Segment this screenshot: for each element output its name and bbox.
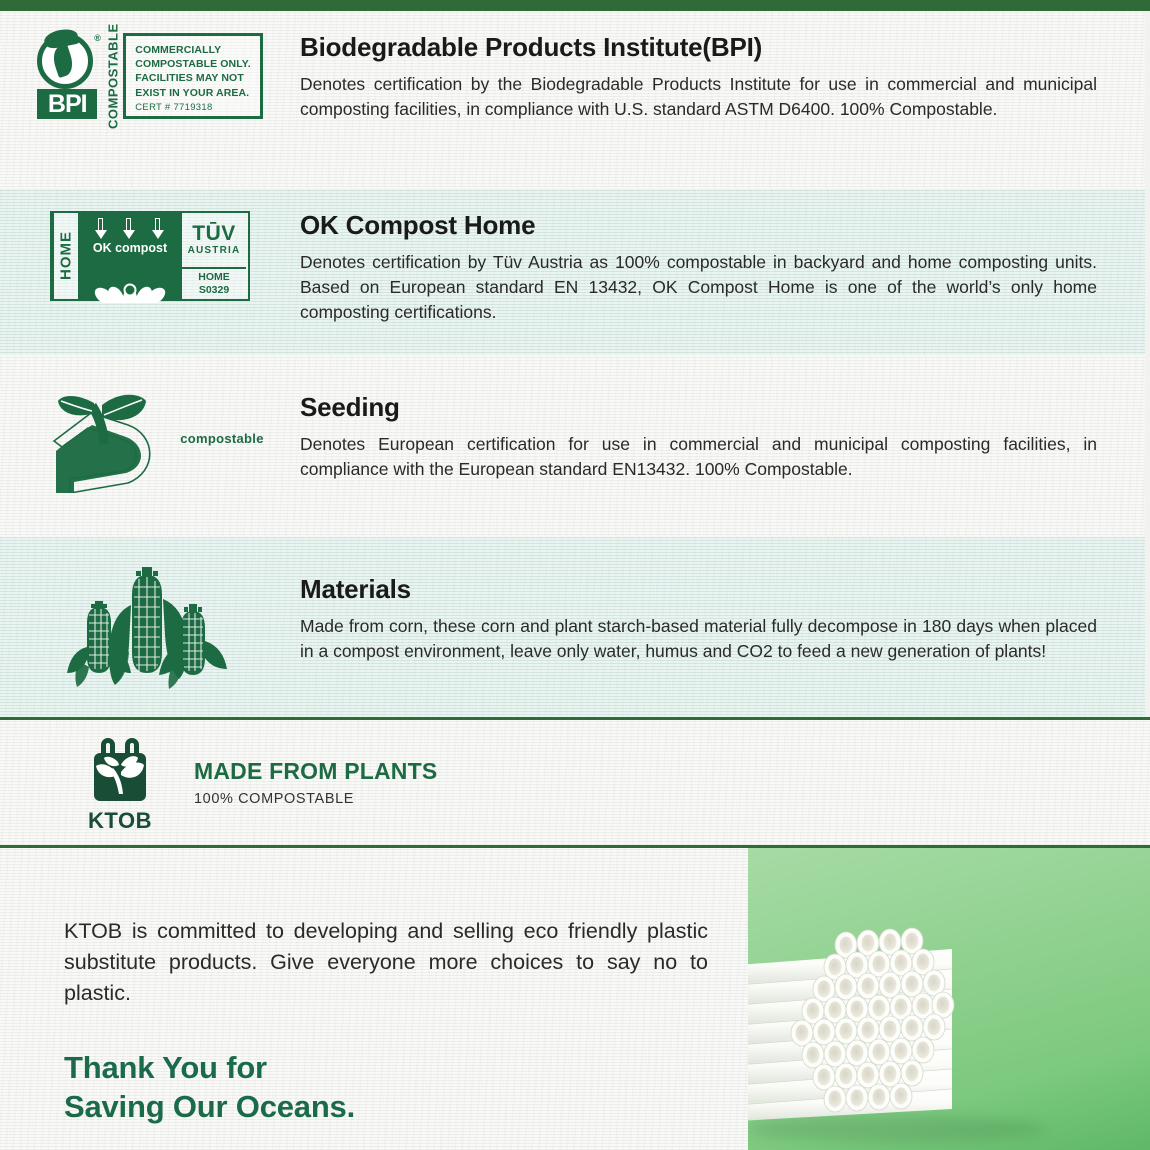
- seeding-logo: compostable: [0, 383, 300, 493]
- ktob-band-text: MADE FROM PLANTS 100% COMPOSTABLE: [194, 758, 437, 807]
- section-bpi-title: Biodegradable Products Institute(BPI): [300, 33, 1097, 62]
- down-arrow-icon: [123, 218, 136, 240]
- bpi-disclaimer-line-1: COMMERCIALLY: [135, 43, 250, 57]
- ktob-made-from-plants-band: KTOB MADE FROM PLANTS 100% COMPOSTABLE: [0, 717, 1150, 848]
- ktob-subline: 100% COMPOSTABLE: [194, 791, 437, 807]
- down-arrow-icon: [95, 218, 108, 240]
- tuv-wordmark: TŪV: [192, 224, 236, 244]
- section-materials: Materials Made from corn, these corn and…: [0, 537, 1145, 745]
- straws-photo: [748, 848, 1150, 1150]
- promo-page: ® BPI COMPOSTABLE COMMERCIALLY COMPOSTAB…: [0, 0, 1150, 1150]
- okc-code-block: HOME S0329: [182, 269, 246, 299]
- okc-arrows-group: [78, 213, 182, 240]
- ktob-band-inner: KTOB MADE FROM PLANTS 100% COMPOSTABLE: [0, 720, 1150, 845]
- bpi-disclaimer-line-2: COMPOSTABLE ONLY.: [135, 57, 250, 71]
- flower-icon: [93, 269, 167, 303]
- okc-label-text: OK compost: [78, 241, 182, 255]
- okc-right-panel: TŪV AUSTRIA HOME S0329: [182, 213, 246, 299]
- down-arrow-icon: [152, 218, 165, 240]
- white-straws-graphic: [748, 921, 1048, 1136]
- thanks-line-1: Thank You for: [64, 1048, 708, 1088]
- seedling-caption: compostable: [180, 431, 263, 446]
- top-green-accent-bar: [0, 0, 1150, 11]
- thanks-line-2: Saving Our Oceans.: [64, 1087, 708, 1127]
- bpi-seal-group: ® BPI: [37, 33, 103, 119]
- okc-vertical-home-text: HOME: [52, 213, 78, 299]
- section-bpi-body: Denotes certification by the Biodegradab…: [300, 72, 1097, 123]
- okc-code-number: S0329: [199, 284, 229, 297]
- thanks-heading: Thank You for Saving Our Oceans.: [64, 1048, 708, 1127]
- bpi-cert-number: CERT # 7719318: [135, 102, 250, 115]
- mission-paragraph: KTOB is committed to developing and sell…: [64, 916, 708, 1010]
- seedling-icon: [36, 383, 176, 493]
- ktob-logo: KTOB: [72, 732, 168, 834]
- bottom-copy-panel: KTOB is committed to developing and sell…: [0, 848, 748, 1150]
- bpi-disclaimer-line-3: FACILITIES MAY NOT: [135, 71, 250, 85]
- section-materials-body: Made from corn, these corn and plant sta…: [300, 614, 1097, 665]
- bpi-disclaimer-line-4: EXIST IN YOUR AREA.: [135, 86, 250, 100]
- corn-cobs-icon: [65, 565, 235, 693]
- ktob-headline: MADE FROM PLANTS: [194, 758, 437, 785]
- seedling-logo-graphic: compostable: [36, 383, 263, 493]
- section-ok-compost-home-title: OK Compost Home: [300, 211, 1097, 240]
- section-bpi-text: Biodegradable Products Institute(BPI) De…: [300, 33, 1145, 122]
- section-seeding-title: Seeding: [300, 393, 1097, 422]
- tuv-austria-logo-graphic: HOME OK compost: [50, 211, 250, 301]
- ok-compost-home-logo: HOME OK compost: [0, 211, 300, 301]
- okc-code-home: HOME: [198, 271, 230, 284]
- okc-green-panel: OK compost: [78, 213, 182, 299]
- section-ok-compost-home-body: Denotes certification by Tüv Austria as …: [300, 250, 1097, 326]
- section-seeding: compostable Seeding Denotes European cer…: [0, 355, 1145, 565]
- bpi-logo: ® BPI COMPOSTABLE COMMERCIALLY COMPOSTAB…: [0, 33, 300, 119]
- section-seeding-text: Seeding Denotes European certification f…: [300, 383, 1145, 482]
- section-bpi: ® BPI COMPOSTABLE COMMERCIALLY COMPOSTAB…: [0, 11, 1145, 211]
- section-seeding-body: Denotes European certification for use i…: [300, 432, 1097, 483]
- bpi-wordmark: BPI: [37, 89, 97, 119]
- bottom-copy-inner: KTOB is committed to developing and sell…: [0, 848, 748, 1127]
- section-ok-compost-home-text: OK Compost Home Denotes certification by…: [300, 211, 1145, 326]
- section-ok-compost-home: HOME OK compost: [0, 189, 1145, 377]
- bpi-registered-mark: ®: [94, 33, 101, 43]
- tuv-mark: TŪV AUSTRIA: [182, 213, 246, 269]
- section-materials-title: Materials: [300, 575, 1097, 604]
- tuv-austria-text: AUSTRIA: [188, 245, 241, 256]
- bottom-section: KTOB is committed to developing and sell…: [0, 848, 1150, 1150]
- bpi-logo-graphic: ® BPI COMPOSTABLE COMMERCIALLY COMPOSTAB…: [37, 33, 262, 119]
- plant-in-bag-icon: [84, 732, 156, 806]
- bpi-vertical-compostable-text: COMPOSTABLE: [103, 33, 123, 119]
- section-materials-text: Materials Made from corn, these corn and…: [300, 565, 1145, 664]
- bpi-disclaimer-box: COMMERCIALLY COMPOSTABLE ONLY. FACILITIE…: [123, 33, 262, 119]
- ktob-wordmark: KTOB: [88, 808, 152, 834]
- materials-logo: [0, 565, 300, 693]
